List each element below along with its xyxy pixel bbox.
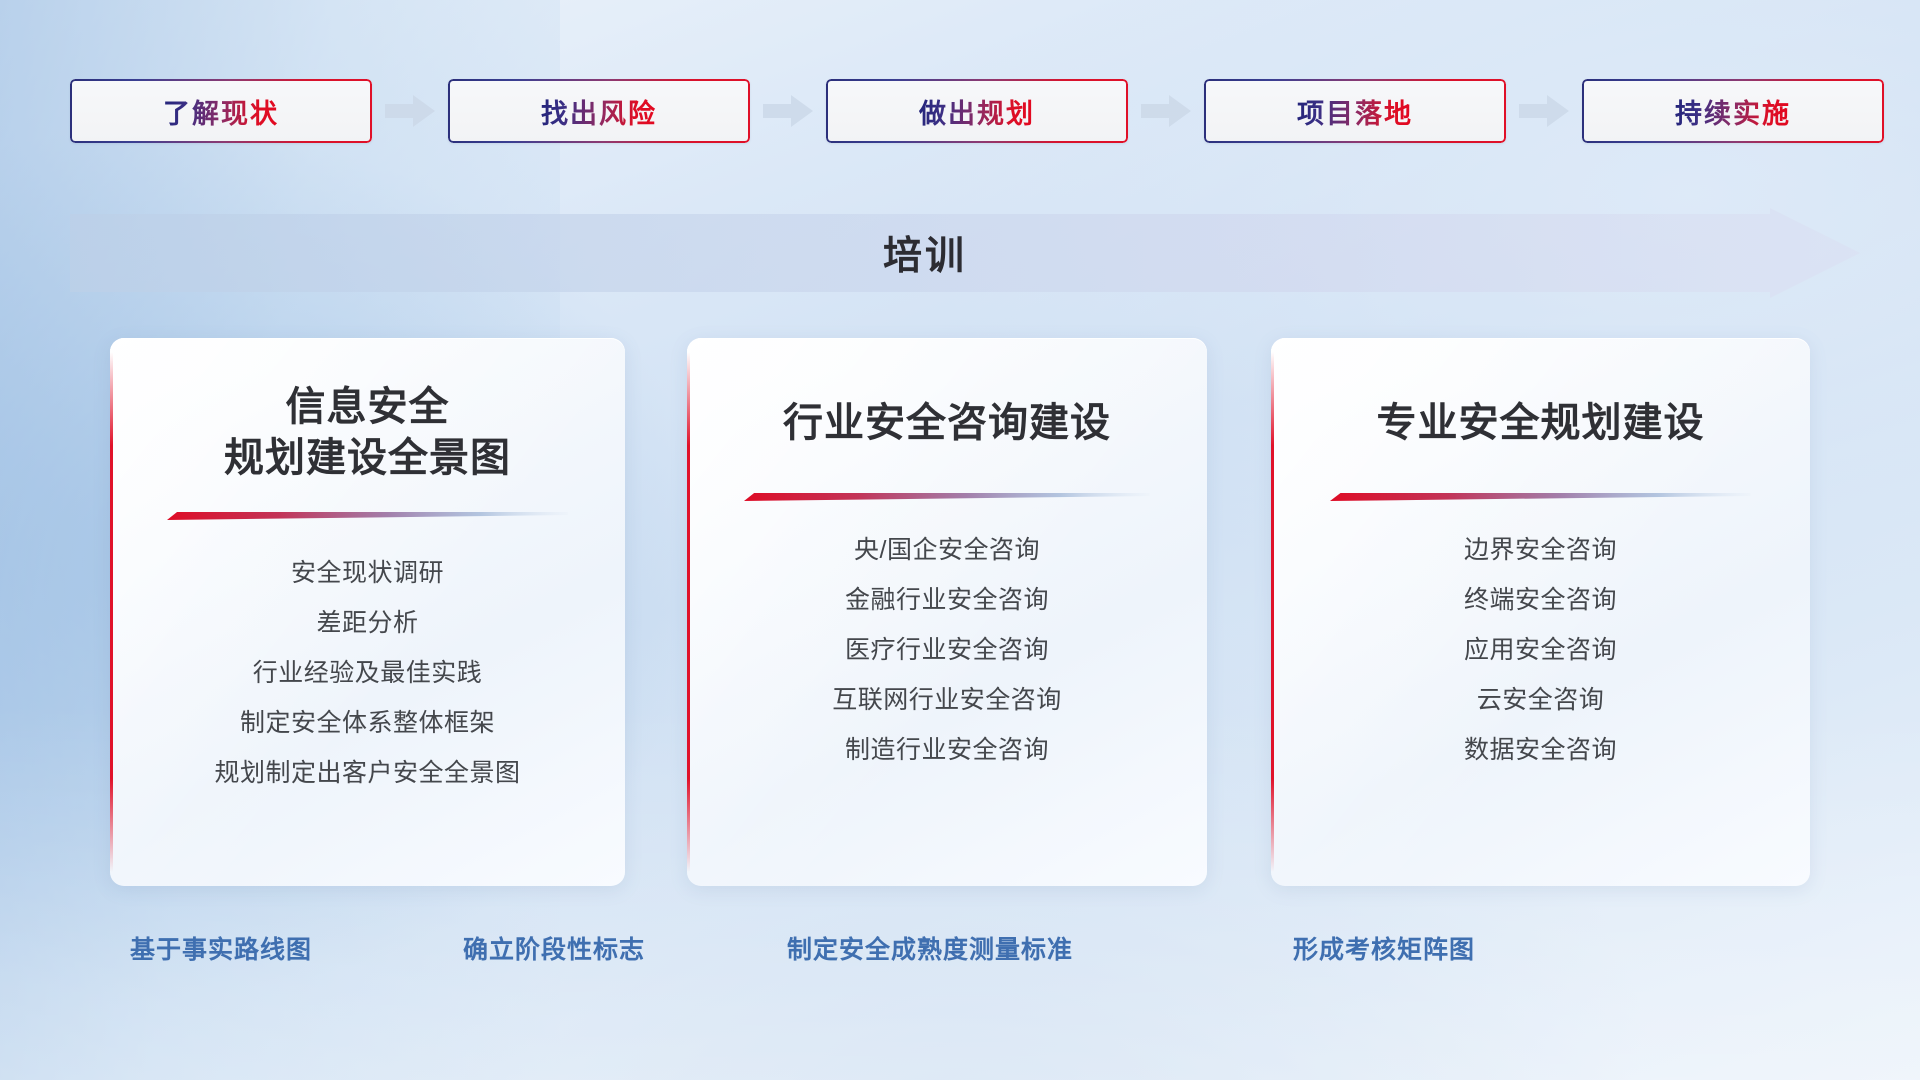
arrow-right-icon <box>383 93 437 129</box>
footer-caption: 确立阶段性标志 <box>463 930 645 966</box>
list-item: 互联网行业安全咨询 <box>832 675 1062 725</box>
step-label-3: 做出规划 <box>919 92 1035 131</box>
list-item: 安全现状调研 <box>291 548 444 598</box>
step-label-4: 项目落地 <box>1297 92 1413 131</box>
card-divider-rule <box>167 510 569 522</box>
arrow-right-icon <box>761 93 815 129</box>
list-item: 金融行业安全咨询 <box>845 575 1049 625</box>
card-item-list: 央/国企安全咨询 金融行业安全咨询 医疗行业安全咨询 互联网行业安全咨询 制造行… <box>687 525 1207 775</box>
step-box-5[interactable]: 持续实施 <box>1582 79 1884 143</box>
process-step-row: 了解现状 找出风险 做出规划 项目落地 <box>70 78 1860 144</box>
card-title: 信息安全 规划建设全景图 <box>224 382 511 484</box>
list-item: 终端安全咨询 <box>1464 575 1617 625</box>
list-item: 制造行业安全咨询 <box>845 725 1049 775</box>
step-box-3[interactable]: 做出规划 <box>826 79 1128 143</box>
footer-caption: 制定安全成熟度测量标准 <box>787 930 1073 966</box>
step-label-5: 持续实施 <box>1675 92 1791 131</box>
slide-canvas: 了解现状 找出风险 做出规划 项目落地 <box>0 0 1920 1080</box>
card-title: 行业安全咨询建设 <box>783 398 1111 449</box>
list-item: 规划制定出客户安全全景图 <box>214 748 520 798</box>
list-item: 应用安全咨询 <box>1464 625 1617 675</box>
footer-caption: 基于事实路线图 <box>130 930 312 966</box>
card-title: 专业安全规划建设 <box>1377 398 1705 449</box>
arrow-right-icon <box>1139 93 1193 129</box>
step-label-1: 了解现状 <box>163 92 279 131</box>
list-item: 数据安全咨询 <box>1464 725 1617 775</box>
card-accent-edge <box>687 352 690 872</box>
training-banner: 培训 <box>70 208 1860 298</box>
card-info-security-blueprint[interactable]: 信息安全 规划建设全景图 <box>110 338 625 886</box>
list-item: 央/国企安全咨询 <box>854 525 1040 575</box>
step-box-1[interactable]: 了解现状 <box>70 79 372 143</box>
card-divider-rule <box>1330 491 1750 503</box>
card-divider-rule <box>744 491 1150 503</box>
list-item: 医疗行业安全咨询 <box>845 625 1049 675</box>
list-item: 边界安全咨询 <box>1464 525 1617 575</box>
card-item-list: 安全现状调研 差距分析 行业经验及最佳实践 制定安全体系整体框架 规划制定出客户… <box>110 548 625 798</box>
step-box-2[interactable]: 找出风险 <box>448 79 750 143</box>
list-item: 差距分析 <box>316 598 418 648</box>
card-item-list: 边界安全咨询 终端安全咨询 应用安全咨询 云安全咨询 数据安全咨询 <box>1271 525 1810 775</box>
footer-caption: 形成考核矩阵图 <box>1293 930 1475 966</box>
card-professional-security-planning[interactable]: 专业安全规划建设 <box>1271 338 1810 886</box>
card-accent-edge <box>1271 352 1274 872</box>
footer-caption-row: 基于事实路线图 确立阶段性标志 制定安全成熟度测量标准 形成考核矩阵图 <box>0 930 1920 978</box>
step-box-4[interactable]: 项目落地 <box>1204 79 1506 143</box>
card-accent-edge <box>110 352 113 872</box>
card-industry-security-consulting[interactable]: 行业安全咨询建设 <box>687 338 1207 886</box>
arrow-right-icon <box>1517 93 1571 129</box>
list-item: 行业经验及最佳实践 <box>253 648 483 698</box>
training-banner-label: 培训 <box>70 208 1780 298</box>
card-row: 信息安全 规划建设全景图 <box>110 338 1810 886</box>
list-item: 云安全咨询 <box>1477 675 1605 725</box>
step-label-2: 找出风险 <box>541 92 657 131</box>
list-item: 制定安全体系整体框架 <box>240 698 495 748</box>
